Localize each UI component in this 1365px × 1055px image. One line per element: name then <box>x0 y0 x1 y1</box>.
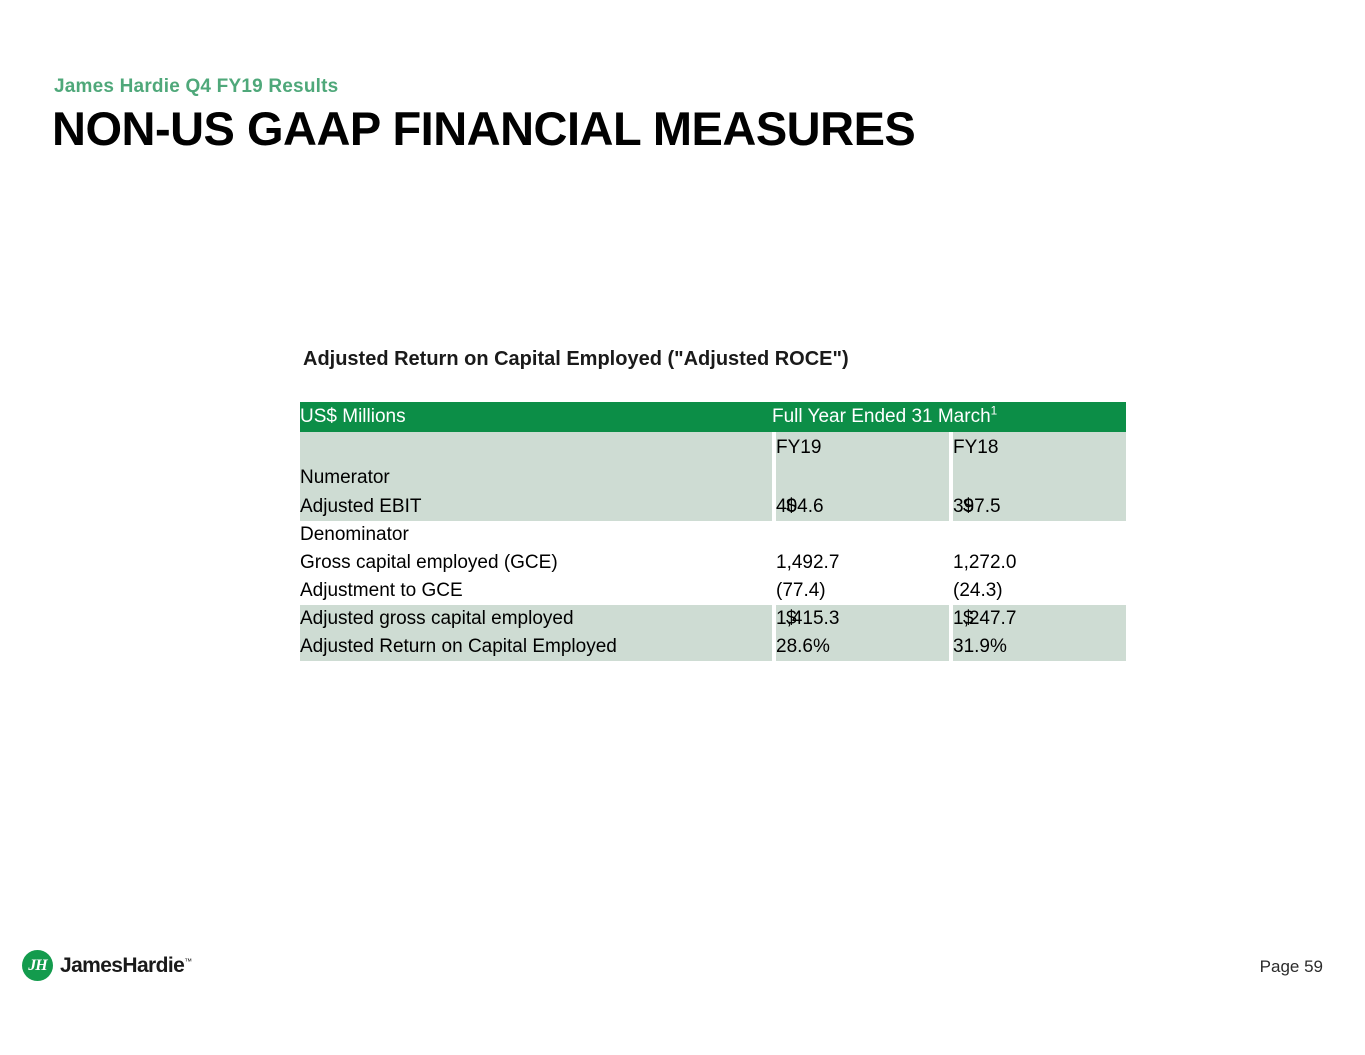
table-row: Adjusted Return on Capital Employed 28.6… <box>300 633 1126 661</box>
table-row: Adjustment to GCE (77.4) (24.3) <box>300 577 1126 605</box>
table-header-row: US$ Millions Full Year Ended 31 March1 <box>300 402 1126 432</box>
table-row: Numerator <box>300 463 1126 492</box>
page-number: Page 59 <box>1260 957 1323 977</box>
row-value-fy19: 1,415.3 <box>776 605 949 633</box>
row-label: Denominator <box>300 521 772 549</box>
jh-monogram-icon: JH <box>22 950 53 981</box>
jh-monogram-text: JH <box>28 958 46 974</box>
row-value-fy19: 1,492.7 <box>776 549 949 577</box>
column-group-header-label: Full Year Ended 31 March <box>772 406 991 427</box>
row-label: Adjusted Return on Capital Employed <box>300 633 772 661</box>
table-row: Adjusted EBIT 404.6 397.5 <box>300 492 1126 521</box>
adjusted-roce-table: US$ Millions Full Year Ended 31 March1 F… <box>300 402 1126 661</box>
row-value-fy19: (77.4) <box>776 577 949 605</box>
row-label: Numerator <box>300 463 772 492</box>
column-group-header: Full Year Ended 31 March1 <box>772 402 1126 432</box>
row-value-fy18: 1,272.0 <box>953 549 1126 577</box>
row-value-fy18: (24.3) <box>953 577 1126 605</box>
row-value-fy18: 31.9% <box>953 633 1126 661</box>
row-value-fy19 <box>776 521 949 549</box>
logo-wordmark: JamesHardie™ <box>60 954 192 978</box>
row-label: Gross capital employed (GCE) <box>300 549 772 577</box>
row-value-fy19: 404.6 <box>776 492 949 521</box>
table-row: Denominator <box>300 521 1126 549</box>
trademark-icon: ™ <box>184 957 191 966</box>
column-header-fy18: FY18 <box>953 432 1126 463</box>
row-value-fy19 <box>776 463 949 492</box>
row-value-fy18 <box>953 521 1126 549</box>
james-hardie-logo: JH JamesHardie™ <box>22 950 192 981</box>
period-header-spacer <box>300 432 772 463</box>
row-label: Adjustment to GCE <box>300 577 772 605</box>
row-label: Adjusted EBIT <box>300 492 772 521</box>
logo-wordmark-text: JamesHardie <box>60 954 184 977</box>
table-row: Adjusted gross capital employed 1,415.3 … <box>300 605 1126 633</box>
table-period-header-row: FY19 FY18 <box>300 432 1126 463</box>
table-row: Gross capital employed (GCE) 1,492.7 1,2… <box>300 549 1126 577</box>
page-title: NON-US GAAP FINANCIAL MEASURES <box>52 101 915 156</box>
table-caption: Adjusted Return on Capital Employed ("Ad… <box>303 348 849 371</box>
footnote-marker: 1 <box>991 405 998 418</box>
column-header-units: US$ Millions <box>300 402 772 432</box>
row-value-fy18 <box>953 463 1126 492</box>
row-value-fy19: 28.6% <box>776 633 949 661</box>
slide-eyebrow: James Hardie Q4 FY19 Results <box>54 76 338 98</box>
row-value-fy18: 397.5 <box>953 492 1126 521</box>
row-value-fy18: 1,247.7 <box>953 605 1126 633</box>
row-label: Adjusted gross capital employed <box>300 605 772 633</box>
column-header-fy19: FY19 <box>776 432 949 463</box>
